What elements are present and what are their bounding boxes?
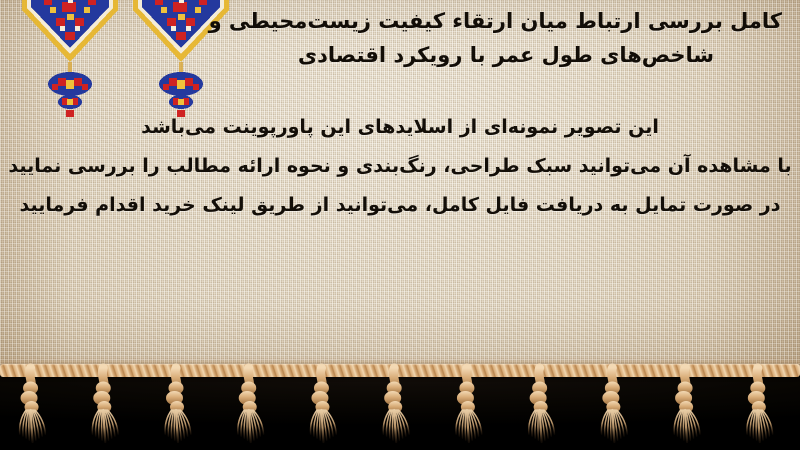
fringe-tassel	[311, 368, 337, 442]
tassel-group	[0, 330, 800, 450]
title-line-1: کامل بررسی ارتباط میان ارتقاء کیفیت زیست…	[230, 4, 782, 38]
fringe-tassel	[165, 368, 191, 442]
body-line-3: در صورت تمایل به دریافت فایل کامل، می‌تو…	[0, 186, 800, 225]
fringe-tassel	[747, 368, 773, 442]
text-layer: کامل بررسی ارتباط میان ارتقاء کیفیت زیست…	[0, 0, 800, 372]
fringe-tassel	[383, 368, 409, 442]
body-line-2: با مشاهده آن می‌توانید سبک طراحی، رنگ‌بن…	[0, 147, 800, 186]
fringe-tassel	[238, 368, 264, 442]
fringe-tassel	[529, 368, 555, 442]
fringe-tassel	[674, 368, 700, 442]
slide-body: این تصویر نمونه‌ای از اسلایدهای این پاور…	[0, 108, 800, 225]
title-line-2: شاخص‌های طول عمر با رویکرد اقتصادی	[230, 38, 782, 72]
fringe-tassel	[601, 368, 627, 442]
slide-title: کامل بررسی ارتباط میان ارتقاء کیفیت زیست…	[230, 4, 782, 72]
fringe-tassel	[92, 368, 118, 442]
carpet-fringe-tassels	[0, 330, 800, 450]
fringe-tassel	[456, 368, 482, 442]
body-line-1: این تصویر نمونه‌ای از اسلایدهای این پاور…	[0, 108, 800, 147]
slide-canvas: کامل بررسی ارتباط میان ارتقاء کیفیت زیست…	[0, 0, 800, 450]
fringe-tassel	[20, 368, 46, 442]
